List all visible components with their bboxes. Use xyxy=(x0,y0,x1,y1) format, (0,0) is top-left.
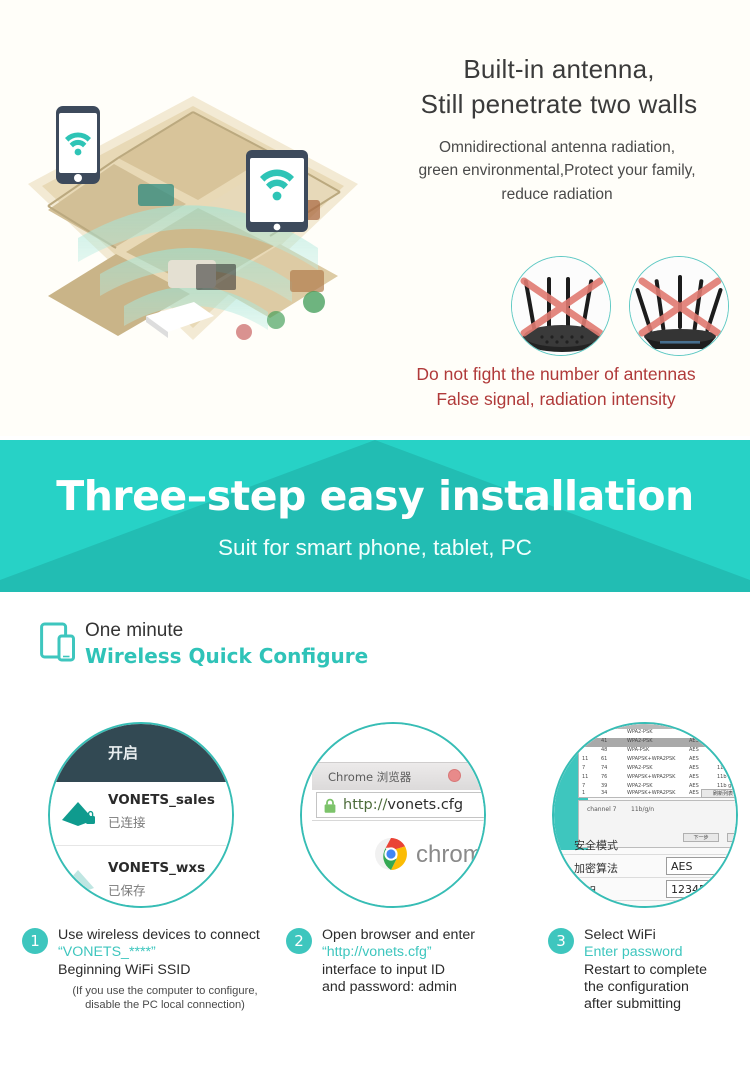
table-row: 48 WPA-PSK AES xyxy=(579,747,738,756)
hero-title-line1: Built-in antenna, xyxy=(380,52,738,87)
autoconnect-checkbox-label: 自动连接记忆热点 xyxy=(582,906,666,908)
hero-title: Built-in antenna, Still penetrate two wa… xyxy=(380,52,738,122)
cell-rate: 11b g n xyxy=(717,765,736,771)
cell-enc: WPA2-PSK xyxy=(627,738,653,744)
password-input[interactable]: 12345678 xyxy=(666,880,738,898)
close-icon[interactable] xyxy=(448,769,461,782)
screenshot-config-page: channel status 40 WPA2-PSK AES 41 WPA2-P… xyxy=(552,722,738,908)
field-label: 加密算法 xyxy=(574,860,618,876)
installation-banner: Three–step easy installation Suit for sm… xyxy=(0,440,750,592)
wifi-list-header: 开启 xyxy=(50,724,234,782)
cell-ch: 7 xyxy=(582,783,585,789)
form-row-autoconnect[interactable]: 自动连接记忆热点 xyxy=(560,901,738,908)
hero-section: Built-in antenna, Still penetrate two wa… xyxy=(0,0,750,436)
chevron-down-icon xyxy=(736,863,738,867)
step2-line1: Open browser and enter xyxy=(322,927,536,944)
cell-alg: AES xyxy=(689,738,699,744)
encryption-select[interactable]: AES xyxy=(666,857,738,875)
cell-rate: 11b g n xyxy=(717,774,736,780)
tablet-phone-icon xyxy=(40,622,80,664)
cell-enc: WPA2-PSK xyxy=(627,729,653,735)
cell-ch: 11 xyxy=(582,756,588,762)
hero-sub-line1: Omnidirectional antenna radiation, xyxy=(372,136,742,159)
step1-note1: (If you use the computer to configure, xyxy=(58,984,272,998)
wifi-ssid: VONETS_sales xyxy=(108,792,215,808)
hero-sub-line3: reduce radiation xyxy=(372,183,742,206)
cell-alg: AES xyxy=(689,765,699,771)
banner-title: Three–step easy installation xyxy=(0,472,750,520)
wifi-signal-icon xyxy=(56,798,98,830)
cell-n: 61 xyxy=(601,756,607,762)
cell-alg: AES xyxy=(689,774,699,780)
step1-line3: Beginning WiFi SSID xyxy=(58,962,272,979)
cell-n: 39 xyxy=(601,783,607,789)
step-number-badge: 3 xyxy=(548,928,574,954)
field-label: 安全模式 xyxy=(574,837,618,853)
cell-n: 74 xyxy=(601,765,607,771)
wifi-signal-icon xyxy=(56,866,98,898)
table-row: 11 61 WPAPSK+WPA2PSK AES 11b g n xyxy=(579,756,738,765)
table-row: 11 76 WPAPSK+WPA2PSK AES 11b g n xyxy=(579,774,738,783)
cell-enc: WPAPSK+WPA2PSK xyxy=(627,774,675,780)
step-screenshots: 开启 VONETS_sales 已连接 VONETS_wxs xyxy=(0,722,750,920)
hero-subtitle: Omnidirectional antenna radiation, green… xyxy=(372,136,742,206)
banner-subtitle: Suit for smart phone, tablet, PC xyxy=(0,535,750,561)
floorplan-illustration xyxy=(18,88,368,360)
step1-note2: disable the PC local connection) xyxy=(58,998,272,1012)
form-row-security-mode: 安全模式 xyxy=(560,832,738,855)
cell-n: 40 xyxy=(601,729,607,735)
config-scan-table: channel status 40 WPA2-PSK AES 41 WPA2-P… xyxy=(578,722,738,798)
table-row: 40 WPA2-PSK AES xyxy=(579,729,738,738)
form-row-password: 密钥 12345678 xyxy=(560,878,738,901)
cell-alg: AES xyxy=(689,729,699,735)
table-row: 7 74 WPA2-PSK AES 11b g n xyxy=(579,765,738,774)
browser-url-text: http://vonets.cfg xyxy=(343,797,463,813)
form-row-encryption: 加密算法 AES xyxy=(560,855,738,878)
cell-alg: AES xyxy=(689,756,699,762)
wifi-state: 已连接 xyxy=(108,812,146,831)
step3-line5: after submitting xyxy=(584,996,750,1013)
refresh-list-button[interactable]: 刷新列表 xyxy=(701,789,738,798)
browser-url-bar[interactable]: http://vonets.cfg xyxy=(316,792,486,818)
step-number-badge: 2 xyxy=(286,928,312,954)
wifi-network-row[interactable]: VONETS_sales 已连接 xyxy=(50,782,234,846)
url-scheme: http:// xyxy=(343,797,387,813)
step2-line3: interface to input ID xyxy=(322,962,536,979)
step3-line2: Enter password xyxy=(584,944,750,961)
step2-line2: “http://vonets.cfg” xyxy=(322,944,536,961)
warn-line1: Do not fight the number of antennas xyxy=(370,362,742,387)
field-label: 密钥 xyxy=(574,883,596,899)
step-captions: 1 Use wireless devices to connect “VONET… xyxy=(0,928,750,1048)
cell-n: 48 xyxy=(601,747,607,753)
table-row-selected[interactable]: 41 WPA2-PSK AES xyxy=(579,738,738,747)
step3-line4: the configuration xyxy=(584,979,750,996)
browser-content-area: chrom xyxy=(312,820,486,894)
step-number-badge: 1 xyxy=(22,928,48,954)
one-minute-line2: Wireless Quick Configure xyxy=(85,644,368,668)
step1-line1: Use wireless devices to connect xyxy=(58,927,272,944)
cell-enc: WPA2-PSK xyxy=(627,765,653,771)
step3-line1: Select WiFi xyxy=(584,927,750,944)
lock-icon xyxy=(323,798,337,814)
one-minute-heading: One minute Wireless Quick Configure xyxy=(40,620,440,676)
cell-alg: AES xyxy=(689,747,699,753)
channel-select[interactable]: channel 7 xyxy=(587,806,616,813)
cell-n: 76 xyxy=(601,774,607,780)
wifi-ssid: VONETS_wxs xyxy=(108,860,205,876)
step2-line4: and password: admin xyxy=(322,979,536,996)
wifi-state: 已保存 xyxy=(108,880,146,899)
url-host: vonets.cfg xyxy=(387,797,463,813)
cell-enc: WPAPSK+WPA2PSK xyxy=(627,756,675,762)
cell-enc: WPA-PSK xyxy=(627,747,649,753)
chrome-logo-icon xyxy=(374,837,408,871)
router-image-four-antenna xyxy=(511,256,611,356)
cell-ch: 11 xyxy=(582,774,588,780)
wifi-toggle-label: 开启 xyxy=(108,742,138,763)
antenna-warning-text: Do not fight the number of antennas Fals… xyxy=(370,362,742,412)
table-header-row: channel status xyxy=(579,722,738,729)
browser-tab-title: Chrome 浏览器 xyxy=(328,769,411,785)
warn-line2: False signal, radiation intensity xyxy=(370,387,742,412)
cell-enc: WPAPSK+WPA2PSK xyxy=(627,790,675,796)
screenshot-browser: Chrome 浏览器 http://vonets.cfg xyxy=(300,722,486,908)
chrome-logo-text: chrom xyxy=(416,841,483,869)
cell-ch: 7 xyxy=(582,765,585,771)
hero-sub-line2: green environmental,Protect your family, xyxy=(372,159,742,182)
table-header-label: channel status xyxy=(627,722,664,726)
step1-line2: “VONETS_****” xyxy=(58,944,272,961)
screenshot-wifi-list: 开启 VONETS_sales 已连接 VONETS_wxs xyxy=(48,722,234,908)
cell-alg: AES xyxy=(689,790,699,796)
router-comparison-images xyxy=(505,256,737,356)
wifi-network-row[interactable]: VONETS_wxs 已保存 xyxy=(50,850,234,908)
hero-title-line2: Still penetrate two walls xyxy=(380,87,738,122)
cell-alg: AES xyxy=(689,783,699,789)
cell-n: 41 xyxy=(601,738,607,744)
step3-line3: Restart to complete xyxy=(584,962,750,979)
router-image-six-antenna xyxy=(629,256,729,356)
cell-ch: 1 xyxy=(582,790,585,796)
cell-enc: WPA2-PSK xyxy=(627,783,653,789)
cell-rate: 11b g n xyxy=(717,756,736,762)
product-infographic-page: Built-in antenna, Still penetrate two wa… xyxy=(0,0,750,1090)
cell-n: 34 xyxy=(601,790,607,796)
mode-select[interactable]: 11b/g/n xyxy=(631,806,654,813)
one-minute-line1: One minute xyxy=(85,620,183,642)
